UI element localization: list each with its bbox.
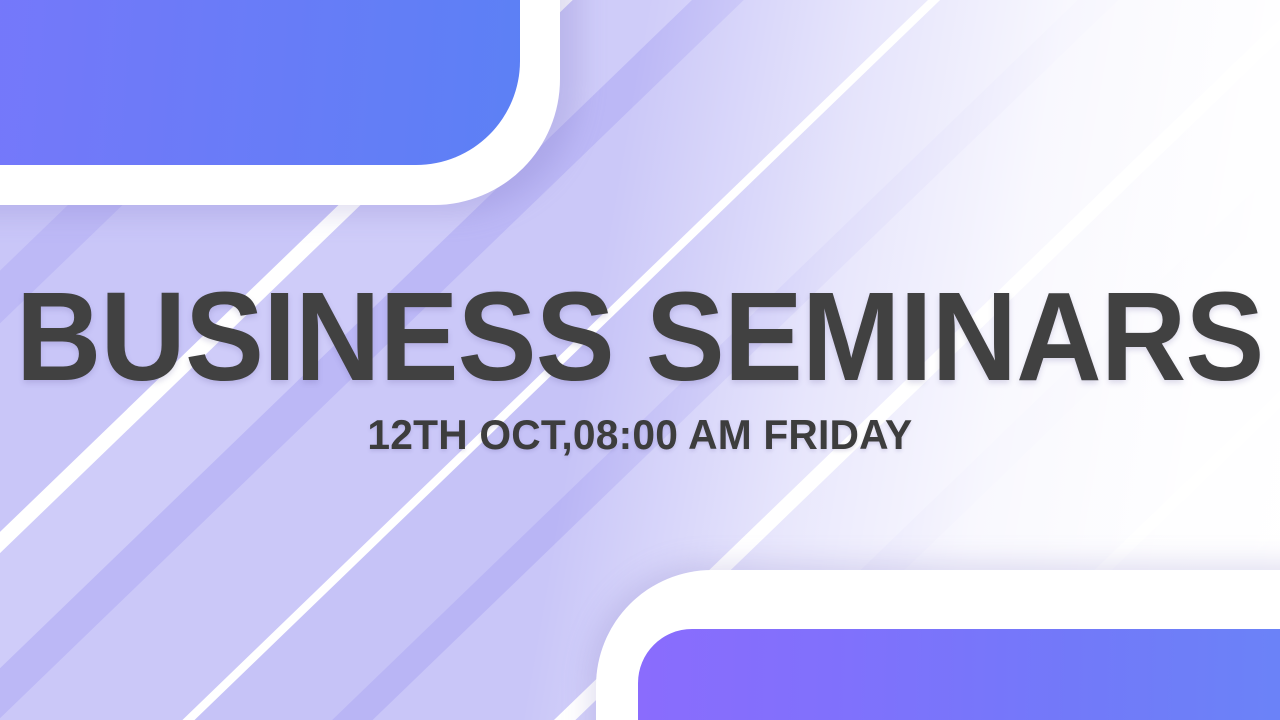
top-left-gradient-panel [0,0,520,165]
bottom-right-gradient-panel [638,629,1280,720]
event-poster: BUSINESS SEMINARS 12TH OCT,08:00 AM FRID… [0,0,1280,720]
